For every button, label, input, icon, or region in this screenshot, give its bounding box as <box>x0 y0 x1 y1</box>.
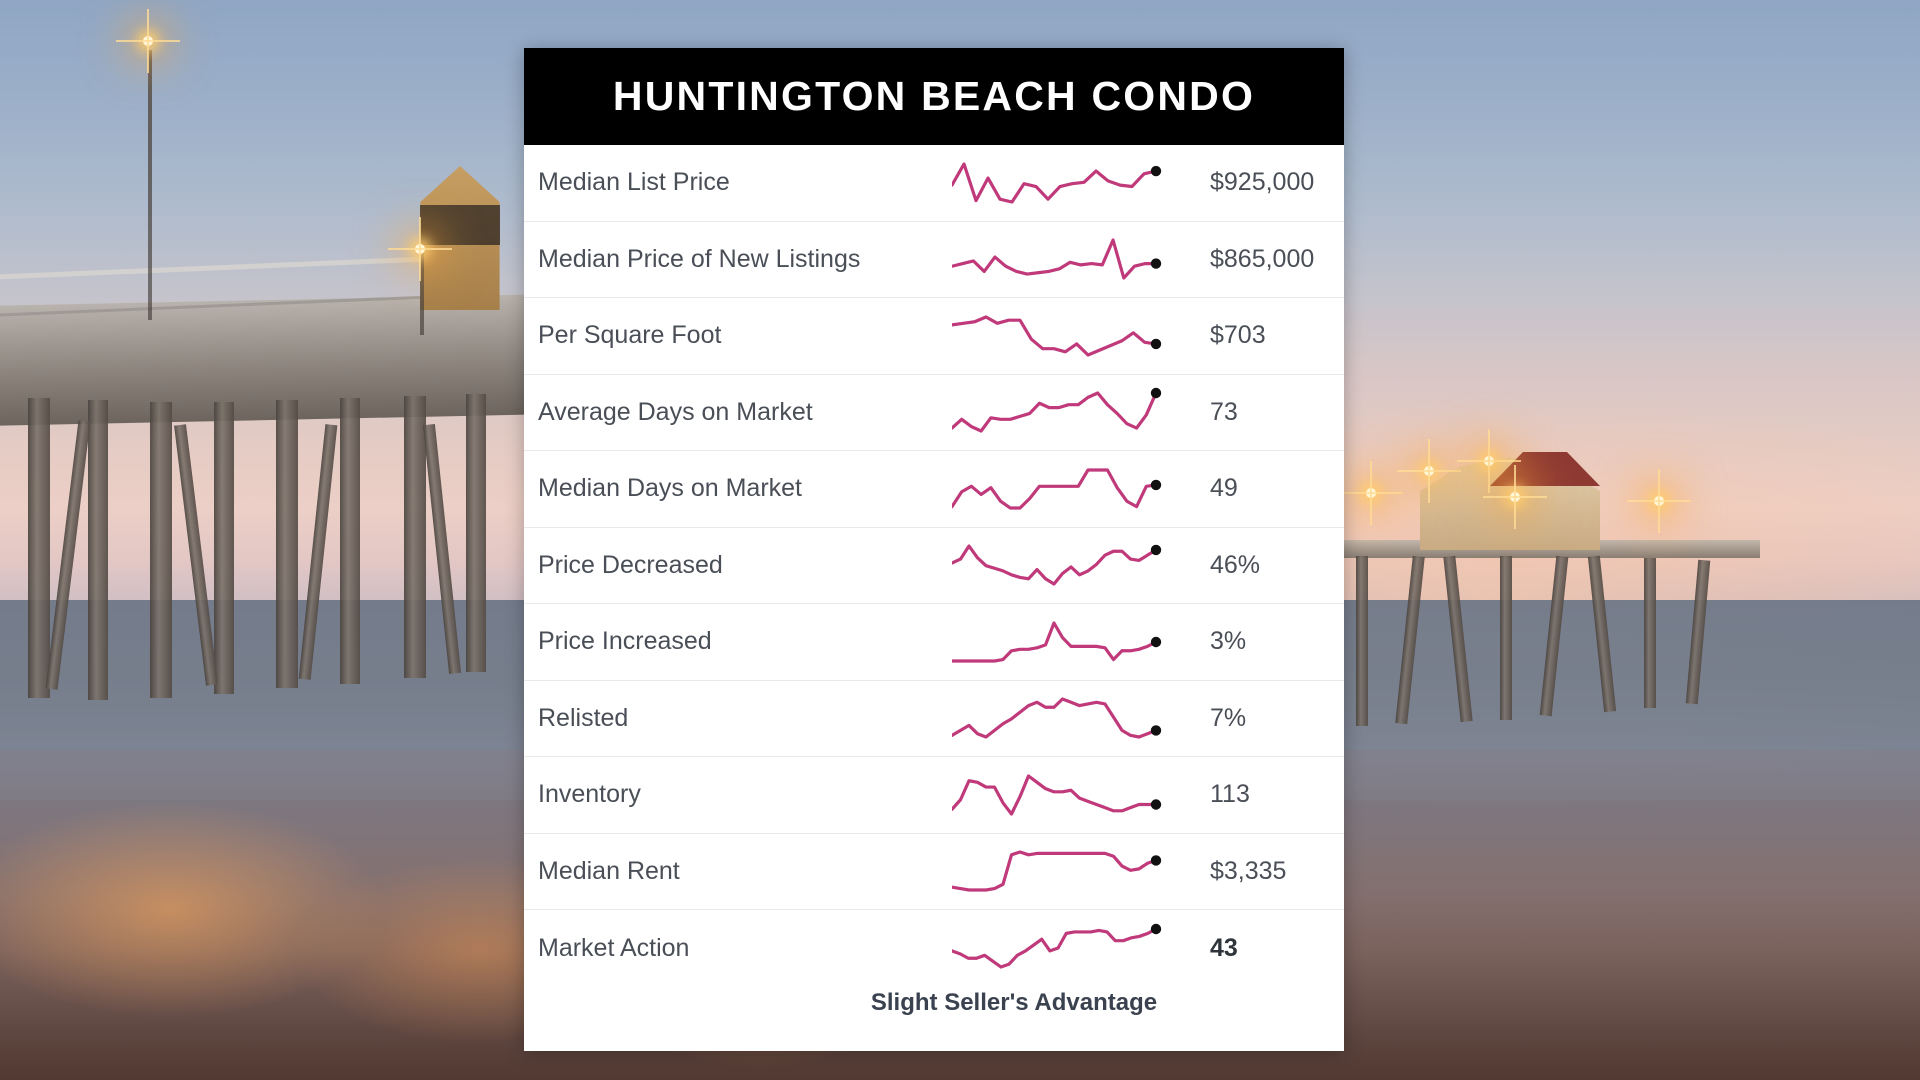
lamp-post <box>148 50 152 320</box>
metric-value: 49 <box>1168 474 1344 503</box>
metric-value: 43 <box>1168 934 1344 963</box>
sparkline-path <box>952 623 1156 661</box>
pier-piling <box>276 400 298 688</box>
pier-piling <box>1356 556 1368 726</box>
metric-sparkline <box>952 617 1168 667</box>
lifeguard-tower-window <box>420 205 500 245</box>
page-title: HUNTINGTON BEACH CONDO <box>613 73 1255 120</box>
pier-piling <box>214 402 234 694</box>
pier-piling <box>466 394 486 672</box>
sparkline-endpoint-dot <box>1151 799 1161 809</box>
sparkline-endpoint-dot <box>1151 388 1161 398</box>
sparkline-path <box>952 546 1156 584</box>
pier-restaurant-roof <box>1490 452 1600 486</box>
pier-piling <box>404 396 426 678</box>
sparkline-path <box>952 929 1156 967</box>
metric-sparkline <box>952 923 1168 973</box>
pier-lamp-light <box>1510 492 1520 502</box>
sparkline-endpoint-dot <box>1151 924 1161 934</box>
metric-sparkline <box>952 540 1168 590</box>
metric-label: Price Decreased <box>538 551 952 580</box>
metric-sparkline <box>952 387 1168 437</box>
market-stats-card: HUNTINGTON BEACH CONDO Median List Price… <box>524 48 1344 1051</box>
table-row: Median Rent$3,335 <box>524 834 1344 911</box>
metric-label: Market Action <box>538 934 952 963</box>
metric-sparkline <box>952 158 1168 208</box>
table-row: Price Increased3% <box>524 604 1344 681</box>
metric-sparkline <box>952 311 1168 361</box>
pier-lamp-light <box>143 36 153 46</box>
table-row: Median Days on Market49 <box>524 451 1344 528</box>
metric-label: Relisted <box>538 704 952 733</box>
table-row: Median Price of New Listings$865,000 <box>524 222 1344 299</box>
metric-value: 3% <box>1168 627 1344 656</box>
metric-label: Median List Price <box>538 168 952 197</box>
pier-piling <box>1644 558 1656 708</box>
table-row: Average Days on Market73 <box>524 375 1344 452</box>
pier-piling <box>88 400 108 700</box>
pier-piling <box>150 402 172 698</box>
card-header: HUNTINGTON BEACH CONDO <box>524 48 1344 145</box>
sparkline-path <box>952 852 1156 890</box>
metric-sparkline <box>952 464 1168 514</box>
metric-label: Per Square Foot <box>538 321 952 350</box>
metric-label: Median Price of New Listings <box>538 245 952 274</box>
metric-sparkline <box>952 770 1168 820</box>
card-footer: Slight Seller's Advantage <box>524 987 1344 1051</box>
metric-label: Median Rent <box>538 857 952 886</box>
table-row: Relisted7% <box>524 681 1344 758</box>
pier-piling <box>340 398 360 684</box>
metric-label: Median Days on Market <box>538 474 952 503</box>
sparkline-endpoint-dot <box>1151 637 1161 647</box>
sparkline-endpoint-dot <box>1151 855 1161 865</box>
metric-value: $703 <box>1168 321 1344 350</box>
metric-sparkline <box>952 846 1168 896</box>
metric-sparkline <box>952 234 1168 284</box>
metric-label: Average Days on Market <box>538 398 952 427</box>
metric-label: Inventory <box>538 780 952 809</box>
sparkline-endpoint-dot <box>1151 259 1161 269</box>
table-row: Inventory113 <box>524 757 1344 834</box>
sparkline-endpoint-dot <box>1151 545 1161 555</box>
sparkline-path <box>952 470 1156 508</box>
sparkline-path <box>952 776 1156 814</box>
pier-lamp-light <box>1424 466 1434 476</box>
pier-lamp-light <box>1654 496 1664 506</box>
metric-value: 113 <box>1168 780 1344 809</box>
metric-value: $925,000 <box>1168 168 1344 197</box>
pier-piling <box>28 398 50 698</box>
pier-piling <box>1500 556 1512 720</box>
sparkline-path <box>952 240 1156 278</box>
metric-value: 46% <box>1168 551 1344 580</box>
metric-value: $3,335 <box>1168 857 1344 886</box>
table-row: Market Action43 <box>524 910 1344 987</box>
metric-value: 7% <box>1168 704 1344 733</box>
table-row: Per Square Foot$703 <box>524 298 1344 375</box>
metric-value: 73 <box>1168 398 1344 427</box>
sparkline-path <box>952 393 1156 431</box>
sparkline-path <box>952 699 1156 737</box>
table-row: Median List Price$925,000 <box>524 145 1344 222</box>
metrics-list: Median List Price$925,000Median Price of… <box>524 145 1344 987</box>
pier-lamp-light <box>1484 456 1494 466</box>
sparkline-endpoint-dot <box>1151 725 1161 735</box>
pier-lamp-light <box>1366 488 1376 498</box>
pier-lamp-light <box>415 244 425 254</box>
sparkline-endpoint-dot <box>1151 338 1161 348</box>
metric-sparkline <box>952 693 1168 743</box>
market-action-descriptor: Slight Seller's Advantage <box>871 989 1157 1016</box>
sparkline-path <box>952 317 1156 355</box>
sparkline-endpoint-dot <box>1151 166 1161 176</box>
sparkline-endpoint-dot <box>1151 479 1161 489</box>
metric-label: Price Increased <box>538 627 952 656</box>
table-row: Price Decreased46% <box>524 528 1344 605</box>
sparkline-path <box>952 164 1156 202</box>
metric-value: $865,000 <box>1168 245 1344 274</box>
